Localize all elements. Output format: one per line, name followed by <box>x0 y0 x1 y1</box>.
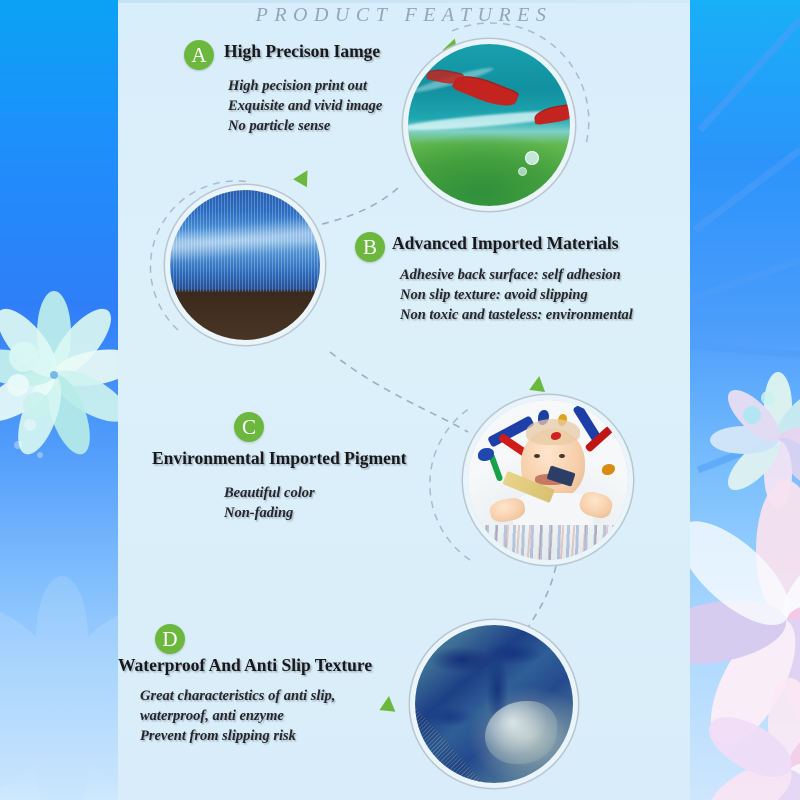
feature-body-d: Great characteristics of anti slip, wate… <box>140 686 335 746</box>
feature-heading-c: Environmental Imported Pigment <box>152 448 406 469</box>
feature-photo-c <box>468 400 628 560</box>
content-panel <box>118 0 690 800</box>
feature-line: Great characteristics of anti slip, <box>140 686 335 706</box>
feature-badge-d: D <box>155 624 185 654</box>
feature-heading-b: Advanced Imported Materials <box>392 233 619 254</box>
page-title: PRODUCT FEATURES <box>118 4 690 27</box>
feature-badge-b: B <box>355 232 385 262</box>
feature-line: Non slip texture: avoid slipping <box>400 285 633 305</box>
feature-photo-d <box>415 625 573 783</box>
feature-line: Adhesive back surface: self adhesion <box>400 265 633 285</box>
feature-line: Non toxic and tasteless: environmental <box>400 305 633 325</box>
left-band-flowers <box>0 0 118 800</box>
panel-top-divider <box>118 0 690 3</box>
feature-line: Prevent from slipping risk <box>140 726 335 746</box>
feature-body-b: Adhesive back surface: self adhesion Non… <box>400 265 633 325</box>
feature-badge-a: A <box>184 40 214 70</box>
feature-line: High pecision print out <box>228 76 382 96</box>
feature-photo-b <box>170 190 320 340</box>
right-decorative-band <box>690 0 800 800</box>
infographic-canvas: PRODUCT FEATURES <box>0 0 800 800</box>
feature-line: Exquisite and vivid image <box>228 96 382 116</box>
feature-line: No particle sense <box>228 116 382 136</box>
feature-heading-d: Waterproof And Anti Slip Texture <box>118 655 372 676</box>
feature-line: Beautiful color <box>224 483 315 503</box>
feature-badge-c: C <box>234 412 264 442</box>
feature-photo-a <box>408 44 570 206</box>
feature-line: waterproof, anti enzyme <box>140 706 335 726</box>
feature-line: Non-fading <box>224 503 315 523</box>
right-band-petals <box>690 0 800 800</box>
feature-body-c: Beautiful color Non-fading <box>224 483 315 523</box>
feature-body-a: High pecision print out Exquisite and vi… <box>228 76 382 136</box>
left-decorative-band <box>0 0 118 800</box>
feature-heading-a: High Precison Iamge <box>224 41 380 62</box>
